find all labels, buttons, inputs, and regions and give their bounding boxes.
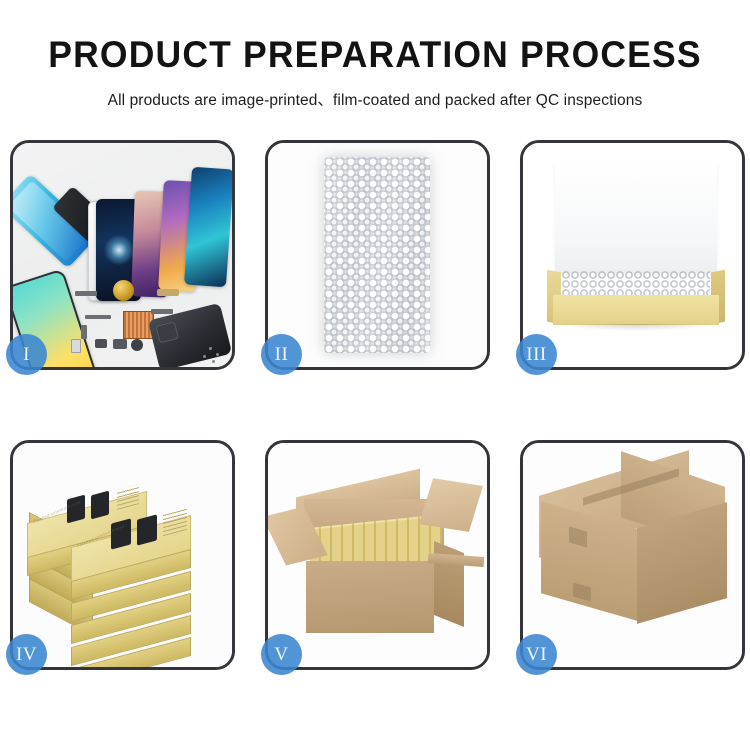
box-label-back-2 <box>91 491 109 520</box>
step-image-open-carton-filled <box>268 443 487 667</box>
step-image-bubble-wrap-wrapping <box>268 143 487 367</box>
box-label-front-2 <box>137 514 157 545</box>
part-small-plate <box>71 339 81 353</box>
page-subtitle: All products are image-printed、film-coat… <box>0 88 750 110</box>
box-stack: stacked-printed-boxes stacked-printed-bo… <box>19 465 231 655</box>
mailer-shadow <box>559 324 713 331</box>
steps-grid: I II III <box>10 140 740 670</box>
part-connector <box>151 309 173 314</box>
part-flex-cable-3 <box>81 325 87 339</box>
step-image-open-mailer-box <box>523 143 742 367</box>
part-flex-cable-2 <box>85 315 111 319</box>
bubble-wrap-bundle <box>324 157 430 353</box>
screw-1 <box>209 347 212 350</box>
step-panel-4: stacked-printed-boxes stacked-printed-bo… <box>10 440 235 670</box>
part-bracket-1 <box>95 339 107 348</box>
part-gold-coil <box>113 280 134 301</box>
part-battery-strip <box>157 289 179 296</box>
step-image-stacked-printed-boxes: stacked-printed-boxes stacked-printed-bo… <box>13 443 232 667</box>
header: PRODUCT PREPARATION PROCESS All products… <box>0 0 750 110</box>
part-camera-ring <box>131 339 143 351</box>
step-badge-6: VI <box>516 634 557 675</box>
step-panel-5: V <box>265 440 490 670</box>
carton-front-face <box>306 561 434 633</box>
step-badge-3: III <box>516 334 557 375</box>
step-panel-2: II <box>265 140 490 370</box>
step-panel-3: III <box>520 140 745 370</box>
part-flex-cable-1 <box>75 291 97 296</box>
mailer-lid <box>555 161 717 273</box>
step-image-sealed-carton <box>523 443 742 667</box>
page-title: PRODUCT PREPARATION PROCESS <box>15 36 735 73</box>
step-panel-6: VI <box>520 440 745 670</box>
step-badge-1: I <box>6 334 47 375</box>
step-image-phone-screens-and-parts <box>13 143 232 367</box>
product-preparation-infographic: PRODUCT PREPARATION PROCESS All products… <box>0 0 750 750</box>
part-bracket-2 <box>113 339 127 349</box>
phone-screen-teal <box>184 167 232 288</box>
mailer-front-face <box>553 295 719 325</box>
mailer-bubble-wrap-fill <box>562 271 710 298</box>
carton-right-flap <box>419 478 483 532</box>
box-label-back-1 <box>67 495 85 524</box>
screw-3 <box>203 355 206 358</box>
screw-2 <box>216 353 219 356</box>
step-badge-4: IV <box>6 634 47 675</box>
step-badge-2: II <box>261 334 302 375</box>
step-panel-1: I <box>10 140 235 370</box>
screw-4 <box>212 360 215 363</box>
step-badge-5: V <box>261 634 302 675</box>
